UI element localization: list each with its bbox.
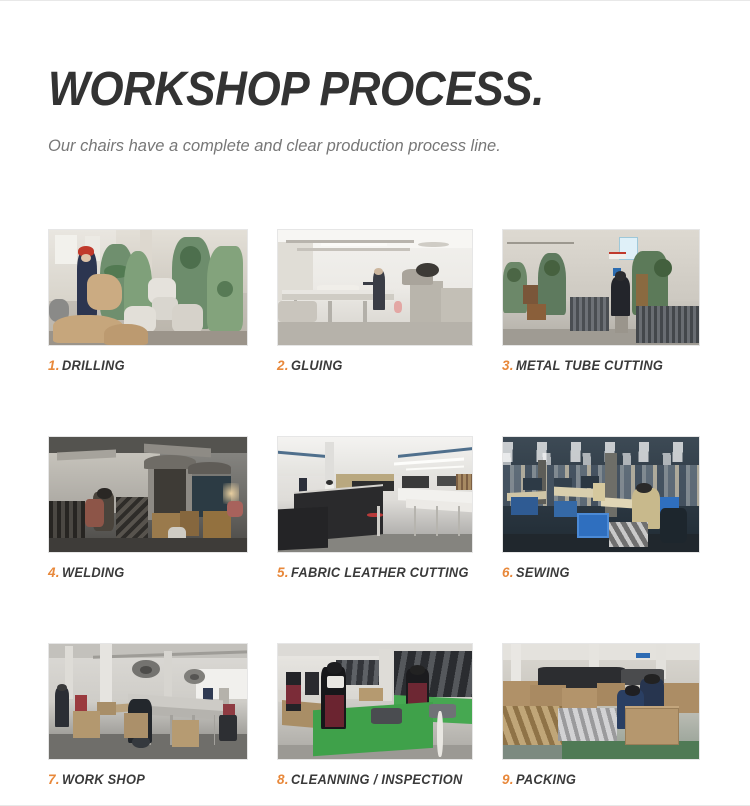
step-9-label: PACKING: [516, 772, 576, 788]
step-6-label: SEWING: [516, 565, 570, 581]
process-step-4[interactable]: 4.WELDING: [48, 436, 248, 581]
step-6-caption: 6.SEWING: [502, 553, 700, 581]
page-title: WORKSHOP PROCESS.: [48, 63, 655, 117]
process-step-3[interactable]: 3.METAL TUBE CUTTING: [502, 229, 700, 374]
metal-tube-cutting-photo: [503, 230, 699, 345]
fabric-leather-cutting-photo: [278, 437, 472, 552]
step-6-thumbnail[interactable]: [502, 436, 700, 553]
step-8-caption: 8.CLEANNING / INSPECTION: [277, 760, 473, 788]
step-8-label: CLEANNING / INSPECTION: [291, 772, 463, 788]
welding-photo: [49, 437, 247, 552]
drilling-photo: [49, 230, 247, 345]
step-2-caption: 2.GLUING: [277, 346, 473, 374]
cleaning-inspection-photo: [278, 644, 472, 759]
step-7-label: WORK SHOP: [62, 772, 145, 788]
step-5-label: FABRIC LEATHER CUTTING: [291, 565, 469, 581]
process-step-9[interactable]: 9.PACKING: [502, 643, 700, 788]
step-4-number: 4.: [48, 565, 60, 580]
page-subtitle: Our chairs have a complete and clear pro…: [48, 117, 688, 157]
step-5-number: 5.: [277, 565, 289, 580]
step-6-number: 6.: [502, 565, 514, 580]
step-2-thumbnail[interactable]: [277, 229, 473, 346]
step-1-thumbnail[interactable]: [48, 229, 248, 346]
step-9-caption: 9.PACKING: [502, 760, 700, 788]
step-7-caption: 7. WORK SHOP: [48, 760, 248, 788]
step-8-thumbnail[interactable]: [277, 643, 473, 760]
step-5-thumbnail[interactable]: [277, 436, 473, 553]
gluing-photo: [278, 230, 472, 345]
step-7-thumbnail[interactable]: [48, 643, 248, 760]
process-step-7[interactable]: 7. WORK SHOP: [48, 643, 248, 788]
step-3-number: 3.: [502, 358, 514, 373]
step-3-label: METAL TUBE CUTTING: [516, 358, 663, 374]
step-9-number: 9.: [502, 772, 514, 787]
step-1-number: 1.: [48, 358, 60, 373]
step-2-label: GLUING: [291, 358, 343, 374]
header: WORKSHOP PROCESS. Our chairs have a comp…: [48, 63, 708, 157]
process-step-1[interactable]: 1.DRILLING: [48, 229, 248, 374]
process-step-2[interactable]: 2.GLUING: [277, 229, 473, 374]
step-9-thumbnail[interactable]: [502, 643, 700, 760]
step-5-caption: 5.FABRIC LEATHER CUTTING: [277, 553, 473, 581]
process-grid: 1.DRILLING: [48, 229, 700, 788]
step-1-label: DRILLING: [62, 358, 125, 374]
process-row: 7. WORK SHOP: [48, 643, 700, 788]
process-step-8[interactable]: 8.CLEANNING / INSPECTION: [277, 643, 473, 788]
step-2-number: 2.: [277, 358, 289, 373]
step-3-thumbnail[interactable]: [502, 229, 700, 346]
process-step-6[interactable]: 6.SEWING: [502, 436, 700, 581]
process-step-5[interactable]: 5.FABRIC LEATHER CUTTING: [277, 436, 473, 581]
step-4-label: WELDING: [62, 565, 125, 581]
sewing-photo: [503, 437, 699, 552]
step-8-number: 8.: [277, 772, 289, 787]
step-4-caption: 4.WELDING: [48, 553, 248, 581]
step-1-caption: 1.DRILLING: [48, 346, 248, 374]
step-3-caption: 3.METAL TUBE CUTTING: [502, 346, 700, 374]
work-shop-photo: [49, 644, 247, 759]
step-7-number: 7.: [48, 772, 60, 787]
process-row: 1.DRILLING: [48, 229, 700, 374]
workshop-process-page: WORKSHOP PROCESS. Our chairs have a comp…: [0, 0, 750, 806]
packing-photo: [503, 644, 699, 759]
process-row: 4.WELDING: [48, 436, 700, 581]
step-4-thumbnail[interactable]: [48, 436, 248, 553]
